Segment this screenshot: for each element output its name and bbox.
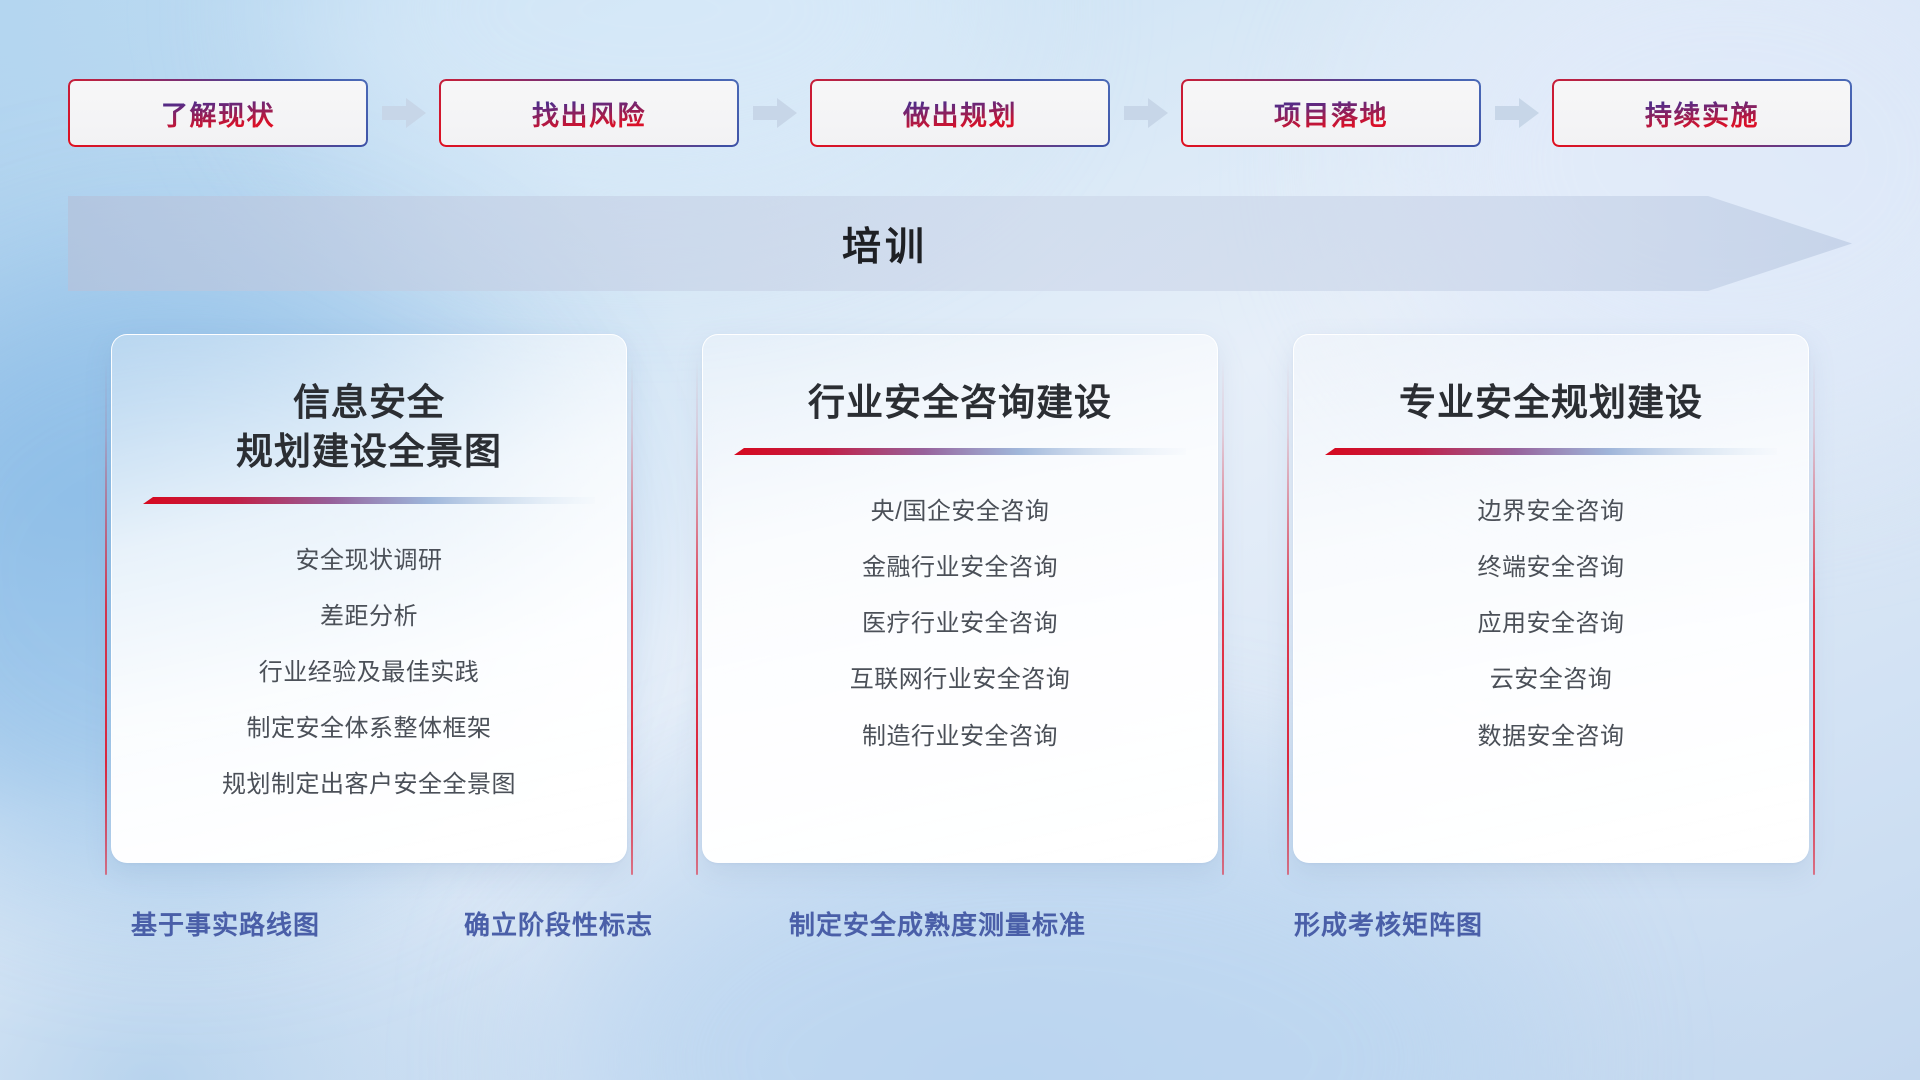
list-item: 应用安全咨询 bbox=[1478, 599, 1625, 648]
list-item: 医疗行业安全咨询 bbox=[862, 599, 1058, 648]
caption-2: 制定安全成熟度测量标准 bbox=[789, 905, 1086, 942]
list-item: 制定安全体系整体框架 bbox=[247, 704, 492, 753]
slide-canvas: 了解现状 找出风险 做出规划 项目落地 bbox=[0, 0, 1920, 1080]
step-chip-4[interactable]: 持续实施 bbox=[1552, 79, 1852, 147]
step-chip-2[interactable]: 做出规划 bbox=[810, 79, 1110, 147]
step-chip-3[interactable]: 项目落地 bbox=[1181, 79, 1481, 147]
list-item: 金融行业安全咨询 bbox=[862, 543, 1058, 592]
step-label: 持续实施 bbox=[1645, 94, 1759, 133]
list-item: 互联网行业安全咨询 bbox=[850, 655, 1071, 704]
caption-0: 基于事实路线图 bbox=[131, 905, 320, 942]
list-item: 边界安全咨询 bbox=[1478, 487, 1625, 536]
card-list: 边界安全咨询 终端安全咨询 应用安全咨询 云安全咨询 数据安全咨询 bbox=[1320, 487, 1782, 761]
gradient-underline-icon bbox=[143, 497, 595, 506]
card-row: 信息安全 规划建设全景图 bbox=[0, 334, 1920, 879]
right-arrow-icon bbox=[1124, 98, 1168, 128]
right-arrow-icon bbox=[382, 98, 426, 128]
card-wrapper-2: 专业安全规划建设 bbox=[1287, 334, 1815, 879]
list-item: 终端安全咨询 bbox=[1478, 543, 1625, 592]
list-item: 规划制定出客户安全全景图 bbox=[222, 760, 516, 809]
list-item: 央/国企安全咨询 bbox=[871, 487, 1050, 536]
step-label: 做出规划 bbox=[903, 94, 1017, 133]
caption-1: 确立阶段性标志 bbox=[464, 905, 653, 942]
step-label: 找出风险 bbox=[532, 94, 646, 133]
info-card-0[interactable]: 信息安全 规划建设全景图 bbox=[111, 334, 627, 863]
gradient-underline-icon bbox=[1325, 448, 1777, 457]
step-label: 项目落地 bbox=[1274, 94, 1388, 133]
banner-title: 培训 bbox=[68, 196, 1702, 291]
caption-3: 形成考核矩阵图 bbox=[1294, 905, 1483, 942]
list-item: 行业经验及最佳实践 bbox=[259, 648, 480, 697]
card-title: 行业安全咨询建设 bbox=[808, 379, 1112, 428]
step-label: 了解现状 bbox=[161, 94, 275, 133]
step-chip-0[interactable]: 了解现状 bbox=[68, 79, 368, 147]
card-wrapper-1: 行业安全咨询建设 bbox=[696, 334, 1224, 879]
card-list: 央/国企安全咨询 金融行业安全咨询 医疗行业安全咨询 互联网行业安全咨询 制造行… bbox=[729, 487, 1191, 761]
list-item: 安全现状调研 bbox=[296, 536, 443, 585]
step-chip-1[interactable]: 找出风险 bbox=[439, 79, 739, 147]
info-card-1[interactable]: 行业安全咨询建设 bbox=[702, 334, 1218, 863]
card-title: 专业安全规划建设 bbox=[1399, 379, 1703, 428]
right-arrow-icon bbox=[753, 98, 797, 128]
list-item: 差距分析 bbox=[320, 592, 418, 641]
caption-row: 基于事实路线图 确立阶段性标志 制定安全成熟度测量标准 形成考核矩阵图 bbox=[0, 905, 1920, 965]
right-arrow-icon bbox=[1495, 98, 1539, 128]
list-item: 数据安全咨询 bbox=[1478, 712, 1625, 761]
card-list: 安全现状调研 差距分析 行业经验及最佳实践 制定安全体系整体框架 规划制定出客户… bbox=[138, 536, 600, 810]
process-step-flow: 了解现状 找出风险 做出规划 项目落地 bbox=[68, 78, 1852, 148]
card-wrapper-0: 信息安全 规划建设全景图 bbox=[105, 334, 633, 879]
info-card-2[interactable]: 专业安全规划建设 bbox=[1293, 334, 1809, 863]
gradient-underline-icon bbox=[734, 448, 1186, 457]
list-item: 制造行业安全咨询 bbox=[862, 712, 1058, 761]
training-banner: 培训 bbox=[68, 196, 1852, 291]
list-item: 云安全咨询 bbox=[1490, 655, 1613, 704]
card-title: 信息安全 规划建设全景图 bbox=[236, 379, 502, 477]
